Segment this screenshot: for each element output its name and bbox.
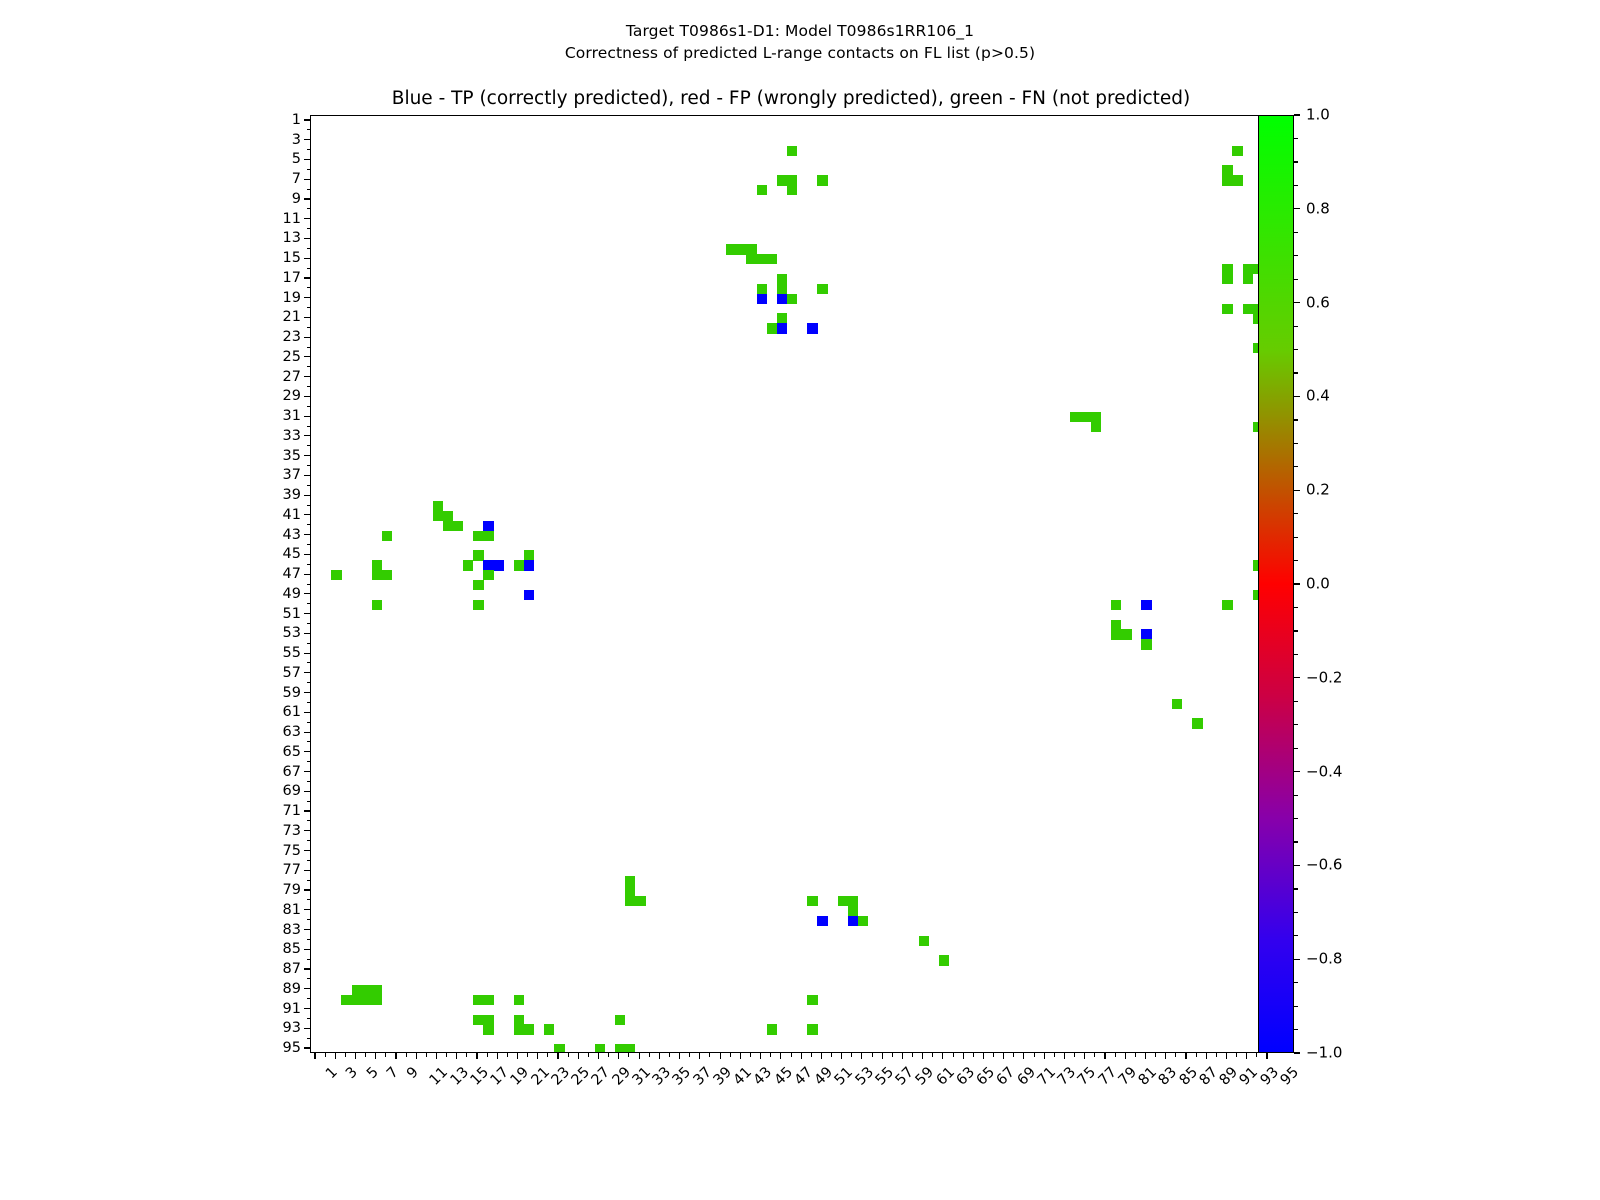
contact-map-plot-area <box>310 115 1272 1053</box>
x-tick-label: 1 <box>324 1065 341 1082</box>
y-tick-mark <box>304 909 310 910</box>
contact-cell <box>1091 412 1102 422</box>
x-tick-mark <box>902 1053 903 1059</box>
x-tick-mark <box>1206 1053 1207 1059</box>
contact-cell <box>524 560 535 570</box>
x-tick-minor-mark <box>912 1053 913 1057</box>
contact-cell <box>625 876 636 886</box>
contact-cell <box>1243 264 1254 274</box>
y-tick-mark <box>304 633 310 634</box>
y-tick-mark <box>304 435 310 436</box>
contact-cell <box>777 323 788 333</box>
colorbar-tick-minor-mark <box>1294 818 1298 819</box>
contact-cell <box>473 600 484 610</box>
y-tick-label: 47 <box>283 567 301 582</box>
contact-cell <box>777 175 788 185</box>
y-tick-label: 23 <box>283 330 301 345</box>
y-tick-label: 31 <box>283 409 301 424</box>
y-tick-minor-mark <box>307 169 311 170</box>
contact-cell <box>1111 629 1122 639</box>
x-tick-mark <box>963 1053 964 1059</box>
x-tick-minor-mark <box>993 1053 994 1057</box>
x-tick-mark <box>1084 1053 1085 1059</box>
colorbar-tick-minor-mark <box>1294 372 1298 373</box>
y-tick-minor-mark <box>307 347 311 348</box>
colorbar-tick-minor-mark <box>1294 490 1298 491</box>
x-tick-mark <box>1064 1053 1065 1059</box>
contact-cell <box>777 284 788 294</box>
y-tick-minor-mark <box>307 880 311 881</box>
y-tick-label: 53 <box>283 626 301 641</box>
y-tick-label: 11 <box>283 211 301 226</box>
contact-cell <box>514 1024 525 1034</box>
x-tick-mark <box>456 1053 457 1059</box>
contact-cell <box>777 274 788 284</box>
contact-map-cells <box>311 116 1271 1052</box>
contact-cell <box>746 254 757 264</box>
colorbar-tick-minor-mark <box>1294 560 1298 561</box>
y-tick-mark <box>304 258 310 259</box>
y-tick-minor-mark <box>307 959 311 960</box>
colorbar-tick-minor-mark <box>1294 912 1298 913</box>
contact-cell <box>382 570 393 580</box>
x-tick-minor-mark <box>365 1053 366 1057</box>
y-tick-label: 27 <box>283 369 301 384</box>
y-tick-label: 87 <box>283 962 301 977</box>
x-tick-minor-mark <box>527 1053 528 1057</box>
contact-cell <box>807 995 818 1005</box>
y-tick-label: 65 <box>283 745 301 760</box>
contact-cell <box>372 985 383 995</box>
x-tick-label: 7 <box>385 1065 402 1082</box>
y-tick-label: 25 <box>283 350 301 365</box>
contact-cell <box>483 1015 494 1025</box>
y-tick-mark <box>304 613 310 614</box>
contact-cell <box>1141 639 1152 649</box>
x-tick-minor-mark <box>932 1053 933 1057</box>
y-tick-minor-mark <box>307 643 311 644</box>
contact-cell <box>767 1024 778 1034</box>
y-tick-label: 3 <box>292 132 301 147</box>
y-tick-label: 1 <box>292 113 301 128</box>
contact-cell <box>807 1024 818 1034</box>
x-tick-minor-mark <box>831 1053 832 1057</box>
y-tick-minor-mark <box>307 505 311 506</box>
figure-subtitle-legend: Blue - TP (correctly predicted), red - F… <box>310 88 1272 109</box>
y-tick-mark <box>304 712 310 713</box>
x-tick-minor-mark <box>1135 1053 1136 1057</box>
contact-cell <box>554 1044 565 1052</box>
x-tick-mark <box>517 1053 518 1059</box>
y-tick-mark <box>304 751 310 752</box>
contact-cell <box>615 1015 626 1025</box>
colorbar-tick-minor-mark <box>1294 1029 1298 1030</box>
colorbar-tick-label: 0.0 <box>1306 577 1330 592</box>
contact-cell <box>483 521 494 531</box>
figure-title-line-1: Target T0986s1-D1: Model T0986s1RR106_1 <box>0 20 1600 42</box>
y-tick-label: 43 <box>283 527 301 542</box>
x-tick-mark <box>1145 1053 1146 1059</box>
y-tick-label: 17 <box>283 271 301 286</box>
y-tick-mark <box>304 475 310 476</box>
x-tick-minor-mark <box>730 1053 731 1057</box>
contact-cell <box>372 600 383 610</box>
contact-cell <box>483 570 494 580</box>
x-tick-minor-mark <box>1115 1053 1116 1057</box>
x-tick-minor-mark <box>1034 1053 1035 1057</box>
y-tick-mark <box>304 277 310 278</box>
colorbar-tick-minor-mark <box>1294 185 1298 186</box>
y-tick-mark <box>304 889 310 890</box>
x-tick-mark <box>355 1053 356 1059</box>
colorbar-tick-minor-mark <box>1294 654 1298 655</box>
x-tick-mark <box>821 1053 822 1059</box>
x-tick-minor-mark <box>628 1053 629 1057</box>
x-tick-mark <box>720 1053 721 1059</box>
y-tick-mark <box>304 337 310 338</box>
colorbar-tick-minor-mark <box>1294 888 1298 889</box>
y-tick-mark <box>304 574 310 575</box>
colorbar-tick-label: 1.0 <box>1306 108 1330 123</box>
y-tick-minor-mark <box>307 682 311 683</box>
colorbar-tick-minor-mark <box>1294 138 1298 139</box>
colorbar-tick-mark <box>1294 583 1300 584</box>
contact-cell <box>1222 304 1233 314</box>
colorbar-tick-minor-mark <box>1294 232 1298 233</box>
contact-cell <box>615 1044 626 1052</box>
x-tick-mark <box>1125 1053 1126 1059</box>
contact-cell <box>483 560 494 570</box>
y-tick-label: 49 <box>283 587 301 602</box>
contact-cell <box>939 955 950 965</box>
colorbar-tick-minor-mark <box>1294 349 1298 350</box>
colorbar-tick-mark <box>1294 208 1300 209</box>
colorbar-tick-minor-mark <box>1294 982 1298 983</box>
contact-cell <box>524 550 535 560</box>
contact-cell <box>1111 620 1122 630</box>
contact-cell <box>514 995 525 1005</box>
y-tick-label: 21 <box>283 310 301 325</box>
x-tick-mark <box>497 1053 498 1059</box>
x-tick-mark <box>1246 1053 1247 1059</box>
y-tick-label: 85 <box>283 942 301 957</box>
y-tick-mark <box>304 297 310 298</box>
colorbar-tick-label: −0.6 <box>1306 858 1342 873</box>
y-tick-label: 5 <box>292 152 301 167</box>
y-tick-mark <box>304 554 310 555</box>
x-tick-minor-mark <box>325 1053 326 1057</box>
y-tick-minor-mark <box>307 268 311 269</box>
x-tick-mark <box>679 1053 680 1059</box>
y-tick-mark <box>304 830 310 831</box>
contact-cell <box>787 185 798 195</box>
y-tick-mark <box>304 238 310 239</box>
contact-cell <box>524 1024 535 1034</box>
y-tick-label: 51 <box>283 606 301 621</box>
x-tick-minor-mark <box>1013 1053 1014 1057</box>
y-tick-minor-mark <box>307 445 311 446</box>
colorbar-tick-minor-mark <box>1294 701 1298 702</box>
y-tick-minor-mark <box>307 307 311 308</box>
x-tick-label: 95 <box>1278 1065 1301 1088</box>
y-tick-mark <box>304 356 310 357</box>
y-tick-mark <box>304 968 310 969</box>
y-tick-label: 71 <box>283 804 301 819</box>
y-tick-label: 95 <box>283 1041 301 1056</box>
x-tick-label: 5 <box>364 1065 381 1082</box>
contact-cell <box>1070 412 1081 422</box>
contact-cell <box>1111 600 1122 610</box>
x-tick-mark <box>1266 1053 1267 1059</box>
contact-cell <box>848 916 859 926</box>
colorbar-tick-label: −0.4 <box>1306 764 1342 779</box>
contact-cell <box>736 244 747 254</box>
contact-cell <box>817 175 828 185</box>
contact-cell <box>473 580 484 590</box>
x-tick-label: 9 <box>405 1065 422 1082</box>
colorbar-tick-minor-mark <box>1294 630 1298 631</box>
x-tick-mark <box>375 1053 376 1059</box>
y-tick-label: 59 <box>283 685 301 700</box>
x-tick-minor-mark <box>568 1053 569 1057</box>
contact-cell <box>817 284 828 294</box>
x-tick-minor-mark <box>669 1053 670 1057</box>
contact-cell <box>1243 274 1254 284</box>
y-tick-mark <box>304 495 310 496</box>
x-tick-mark <box>335 1053 336 1059</box>
contact-cell <box>746 244 757 254</box>
contact-cell <box>362 995 373 1005</box>
x-tick-mark <box>1044 1053 1045 1059</box>
y-tick-label: 39 <box>283 488 301 503</box>
y-tick-minor-mark <box>307 1018 311 1019</box>
x-tick-minor-mark <box>588 1053 589 1057</box>
y-tick-label: 79 <box>283 883 301 898</box>
y-tick-minor-mark <box>307 623 311 624</box>
contact-cell <box>787 175 798 185</box>
y-tick-minor-mark <box>307 741 311 742</box>
y-tick-label: 57 <box>283 666 301 681</box>
contact-cell <box>757 284 768 294</box>
x-axis: 1357911131517192123252729313335373941434… <box>310 1053 1272 1143</box>
x-tick-mark <box>780 1053 781 1059</box>
contact-cell <box>1192 718 1203 728</box>
x-tick-minor-mark <box>406 1053 407 1057</box>
figure-title-line-2: Correctness of predicted L-range contact… <box>0 42 1600 64</box>
y-tick-minor-mark <box>307 860 311 861</box>
colorbar-tick-minor-mark <box>1294 443 1298 444</box>
contact-cell <box>757 294 768 304</box>
y-tick-minor-mark <box>307 1038 311 1039</box>
y-tick-mark <box>304 159 310 160</box>
colorbar-tick-minor-mark <box>1294 466 1298 467</box>
contact-cell <box>625 1044 636 1052</box>
contact-cell <box>848 896 859 906</box>
y-tick-minor-mark <box>307 662 311 663</box>
contact-cell <box>1232 175 1243 185</box>
contact-cell <box>1222 600 1233 610</box>
contact-cell <box>443 521 454 531</box>
contact-cell <box>382 531 393 541</box>
contact-cell <box>757 185 768 195</box>
x-tick-mark <box>841 1053 842 1059</box>
contact-cell <box>483 531 494 541</box>
colorbar-tick-mark <box>1294 865 1300 866</box>
y-tick-label: 83 <box>283 922 301 937</box>
x-tick-minor-mark <box>487 1053 488 1057</box>
y-tick-minor-mark <box>307 465 311 466</box>
colorbar-tick-minor-mark <box>1294 326 1298 327</box>
contact-cell <box>483 1024 494 1034</box>
colorbar-tick-minor-mark <box>1294 537 1298 538</box>
x-tick-mark <box>801 1053 802 1059</box>
y-tick-label: 29 <box>283 389 301 404</box>
colorbar-tick-mark <box>1294 1052 1300 1053</box>
y-tick-mark <box>304 198 310 199</box>
colorbar-tick-minor-mark <box>1294 279 1298 280</box>
contact-cell <box>483 995 494 1005</box>
contact-cell <box>473 531 484 541</box>
x-tick-mark <box>861 1053 862 1059</box>
y-tick-minor-mark <box>307 978 311 979</box>
y-tick-mark <box>304 771 310 772</box>
x-tick-minor-mark <box>649 1053 650 1057</box>
y-tick-minor-mark <box>307 544 311 545</box>
colorbar-tick-mark <box>1294 677 1300 678</box>
x-tick-minor-mark <box>1196 1053 1197 1057</box>
y-tick-mark <box>304 455 310 456</box>
colorbar-tick-mark <box>1294 114 1300 115</box>
x-tick-minor-mark <box>547 1053 548 1057</box>
contact-cell <box>726 244 737 254</box>
colorbar-tick-label: −1.0 <box>1306 1046 1342 1061</box>
y-tick-label: 55 <box>283 646 301 661</box>
x-tick-minor-mark <box>791 1053 792 1057</box>
contact-cell <box>817 916 828 926</box>
y-tick-label: 63 <box>283 725 301 740</box>
y-tick-mark <box>304 514 310 515</box>
colorbar-tick-mark <box>1294 302 1300 303</box>
x-tick-minor-mark <box>1216 1053 1217 1057</box>
y-tick-label: 69 <box>283 784 301 799</box>
contact-cell <box>352 985 363 995</box>
x-tick-mark <box>1226 1053 1227 1059</box>
y-tick-label: 77 <box>283 863 301 878</box>
y-tick-label: 75 <box>283 843 301 858</box>
y-tick-minor-mark <box>307 840 311 841</box>
contact-cell <box>595 1044 606 1052</box>
colorbar-tick-minor-mark <box>1294 1006 1298 1007</box>
x-tick-minor-mark <box>851 1053 852 1057</box>
y-tick-minor-mark <box>307 702 311 703</box>
colorbar-tick-minor-mark <box>1294 396 1298 397</box>
x-tick-minor-mark <box>973 1053 974 1057</box>
contact-cell <box>807 323 818 333</box>
x-tick-minor-mark <box>507 1053 508 1057</box>
y-tick-mark <box>304 317 310 318</box>
x-tick-mark <box>537 1053 538 1059</box>
contact-cell <box>362 985 373 995</box>
y-tick-minor-mark <box>307 584 311 585</box>
contact-cell <box>433 501 444 511</box>
x-tick-mark <box>416 1053 417 1059</box>
colorbar-tick-minor-mark <box>1294 748 1298 749</box>
y-tick-mark <box>304 376 310 377</box>
contact-cell <box>787 294 798 304</box>
colorbar-tick-minor-mark <box>1294 419 1298 420</box>
contact-cell <box>1141 600 1152 610</box>
x-tick-minor-mark <box>872 1053 873 1057</box>
x-tick-mark <box>1023 1053 1024 1059</box>
colorbar-tick-label: 0.2 <box>1306 483 1330 498</box>
y-tick-label: 13 <box>283 231 301 246</box>
contact-cell <box>625 886 636 896</box>
contact-cell <box>463 560 474 570</box>
x-tick-minor-mark <box>1094 1053 1095 1057</box>
y-tick-minor-mark <box>307 228 311 229</box>
contact-cell <box>767 254 778 264</box>
contact-cell <box>919 936 930 946</box>
contact-cell <box>1121 629 1132 639</box>
y-tick-mark <box>304 396 310 397</box>
contact-cell <box>848 906 859 916</box>
colorbar-tick-minor-mark <box>1294 795 1298 796</box>
x-tick-mark <box>598 1053 599 1059</box>
contact-cell <box>473 550 484 560</box>
y-tick-minor-mark <box>307 248 311 249</box>
contact-cell <box>524 590 535 600</box>
contact-cell <box>372 995 383 1005</box>
y-tick-minor-mark <box>307 129 311 130</box>
contact-cell <box>1222 274 1233 284</box>
x-tick-mark <box>436 1053 437 1059</box>
x-tick-minor-mark <box>608 1053 609 1057</box>
y-tick-label: 33 <box>283 429 301 444</box>
x-tick-mark <box>1003 1053 1004 1059</box>
y-tick-minor-mark <box>307 722 311 723</box>
x-tick-mark <box>659 1053 660 1059</box>
x-tick-mark <box>618 1053 619 1059</box>
contact-cell <box>544 1024 555 1034</box>
x-tick-minor-mark <box>345 1053 346 1057</box>
contact-cell <box>473 995 484 1005</box>
contact-cell <box>341 995 352 1005</box>
y-tick-minor-mark <box>307 327 311 328</box>
x-tick-mark <box>740 1053 741 1059</box>
contact-cell <box>1222 264 1233 274</box>
y-tick-label: 93 <box>283 1021 301 1036</box>
y-tick-mark <box>304 139 310 140</box>
x-tick-mark <box>1165 1053 1166 1059</box>
x-tick-minor-mark <box>1236 1053 1237 1057</box>
contact-cell <box>352 995 363 1005</box>
contact-cell <box>514 560 525 570</box>
contact-cell <box>453 521 464 531</box>
x-tick-minor-mark <box>446 1053 447 1057</box>
x-tick-minor-mark <box>1074 1053 1075 1057</box>
x-tick-minor-mark <box>385 1053 386 1057</box>
y-tick-minor-mark <box>307 524 311 525</box>
colorbar-tick-minor-mark <box>1294 513 1298 514</box>
y-tick-mark <box>304 593 310 594</box>
contact-cell <box>433 511 444 521</box>
y-tick-minor-mark <box>307 801 311 802</box>
x-tick-minor-mark <box>892 1053 893 1057</box>
contact-cell <box>473 1015 484 1025</box>
y-tick-mark <box>304 870 310 871</box>
contact-cell <box>767 323 778 333</box>
y-tick-label: 67 <box>283 764 301 779</box>
